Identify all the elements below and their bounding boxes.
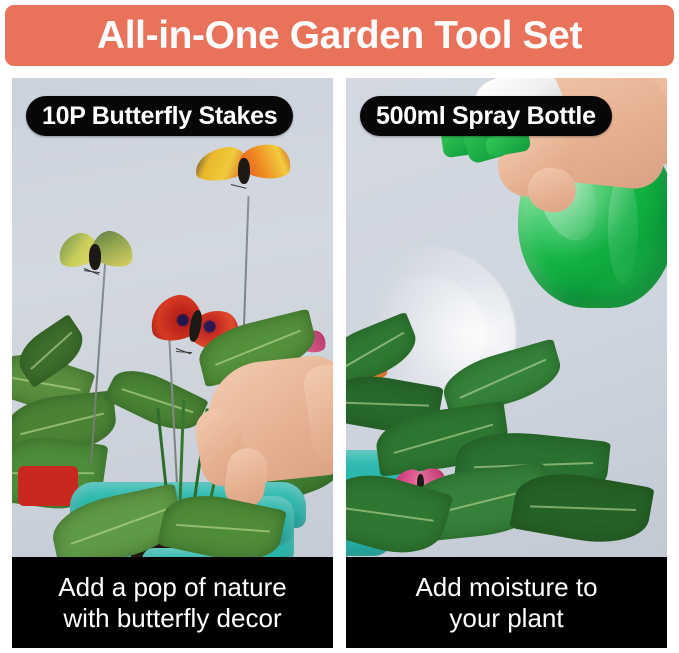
butterfly-antenna <box>84 270 100 273</box>
caption-line-2: with butterfly decor <box>63 603 281 633</box>
butterfly-stake-orange <box>195 140 291 190</box>
caption-line-1: Add a pop of nature <box>58 572 286 602</box>
butterfly-stake-yellow <box>58 228 134 276</box>
butterfly-body <box>89 244 101 270</box>
page-title: All-in-One Garden Tool Set <box>97 16 582 55</box>
caption-line-2: your plant <box>449 603 563 633</box>
caption-butterfly-stakes: Add a pop of nature with butterfly decor <box>12 557 333 648</box>
badge-butterfly-stakes: 10P Butterfly Stakes <box>26 96 293 136</box>
badge-label: 500ml Spray Bottle <box>376 104 596 129</box>
butterfly-antenna <box>231 184 247 189</box>
caption-text: Add a pop of nature with butterfly decor <box>48 572 296 633</box>
panel-spray-bottle: 500ml Spray Bottle Add moisture to your … <box>346 78 667 648</box>
badge-label: 10P Butterfly Stakes <box>42 104 277 129</box>
photo-butterfly-stakes <box>12 78 333 557</box>
butterfly-antenna <box>176 351 192 353</box>
caption-text: Add moisture to your plant <box>405 572 607 633</box>
butterfly-body <box>238 158 250 184</box>
panel-butterfly-stakes: 10P Butterfly Stakes Add a pop of nature… <box>12 78 333 648</box>
photo-spray-bottle <box>346 78 667 557</box>
caption-line-1: Add moisture to <box>415 572 597 602</box>
badge-spray-bottle: 500ml Spray Bottle <box>360 96 612 136</box>
product-panels: 10P Butterfly Stakes Add a pop of nature… <box>0 78 679 650</box>
header-banner: All-in-One Garden Tool Set <box>5 5 674 66</box>
caption-spray-bottle: Add moisture to your plant <box>346 557 667 648</box>
red-pot <box>18 466 78 506</box>
spray-bottle-highlight <box>608 174 638 284</box>
